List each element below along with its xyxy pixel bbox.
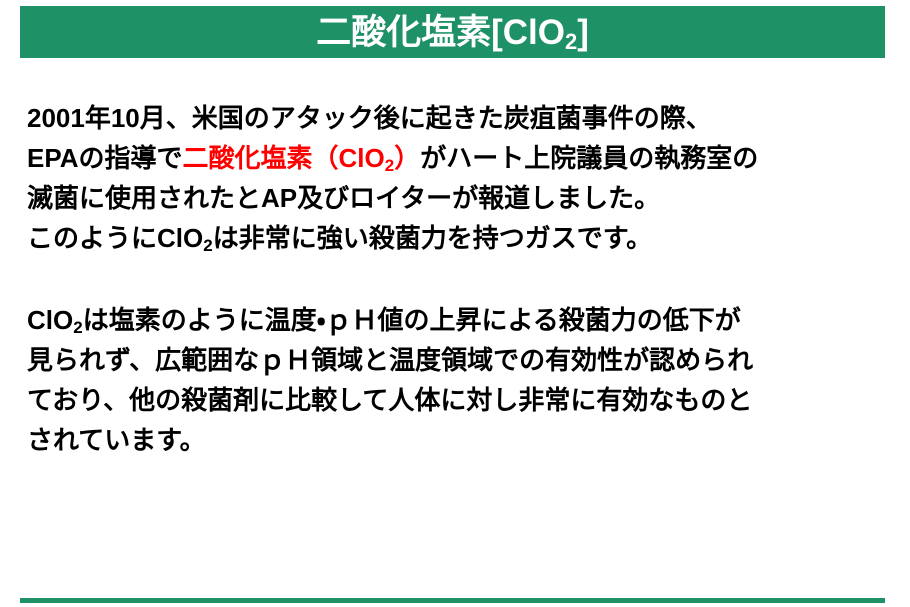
paragraph-1-line-2-suffix: がハート上院議員の執務室の <box>420 143 758 173</box>
page-title-main: 二酸化塩素[ClO <box>316 13 565 52</box>
paragraph-2: ClO2は塩素のように温度・ｐＨ値の上昇による殺菌力の低下が 見られず、広範囲な… <box>27 300 887 460</box>
paragraph-2-line-1-suffix: は塩素のように温度・ｐＨ値の上昇による殺菌力の低下が <box>83 305 741 335</box>
paragraph-1-line-1: 2001年10月、米国のアタック後に起きた炭疽菌事件の際、 <box>27 98 887 138</box>
paragraph-1-line-4: このようにClO2は非常に強い殺菌力を持つガスです。 <box>27 218 887 258</box>
paragraph-2-line-4: されています。 <box>27 420 887 460</box>
paragraph-1: 2001年10月、米国のアタック後に起きた炭疽菌事件の際、 EPAの指導で二酸化… <box>27 98 887 258</box>
slide-root: 二酸化塩素[ClO2] 2001年10月、米国のアタック後に起きた炭疽菌事件の際… <box>0 0 910 607</box>
paragraph-2-line-1: ClO2は塩素のように温度・ｐＨ値の上昇による殺菌力の低下が <box>27 300 887 340</box>
paragraph-2-line-2: 見られず、広範囲なｐＨ領域と温度領域での有効性が認められ <box>27 340 887 380</box>
paragraph-2-line-1-subscript: 2 <box>73 318 82 337</box>
paragraph-2-line-3: ており、他の殺菌剤に比較して人体に対し非常に有効なものと <box>27 380 887 420</box>
chlorine-dioxide-highlight-close: ） <box>394 143 420 173</box>
chlorine-dioxide-highlight: 二酸化塩素（ClO <box>183 143 385 173</box>
bottom-accent-rule <box>20 598 885 603</box>
title-banner: 二酸化塩素[ClO2] <box>20 6 885 58</box>
page-title-subscript: 2 <box>565 29 577 54</box>
paragraph-2-line-1-prefix: ClO <box>27 305 73 335</box>
paragraph-1-line-2: EPAの指導で二酸化塩素（ClO2）がハート上院議員の執務室の <box>27 138 887 178</box>
paragraph-1-line-3: 滅菌に使用されたとAP及びロイターが報道しました。 <box>27 178 887 218</box>
paragraph-1-line-4-subscript: 2 <box>203 236 212 255</box>
paragraph-1-line-4-suffix: は非常に強い殺菌力を持つガスです。 <box>213 223 652 253</box>
slide-body: 2001年10月、米国のアタック後に起きた炭疽菌事件の際、 EPAの指導で二酸化… <box>27 98 887 460</box>
paragraph-1-line-2-prefix: EPAの指導で <box>27 143 183 173</box>
page-title: 二酸化塩素[ClO2] <box>316 15 589 50</box>
page-title-tail: ] <box>577 13 589 52</box>
paragraph-1-line-4-prefix: このようにClO <box>27 223 203 253</box>
chlorine-dioxide-highlight-subscript: 2 <box>385 156 394 175</box>
